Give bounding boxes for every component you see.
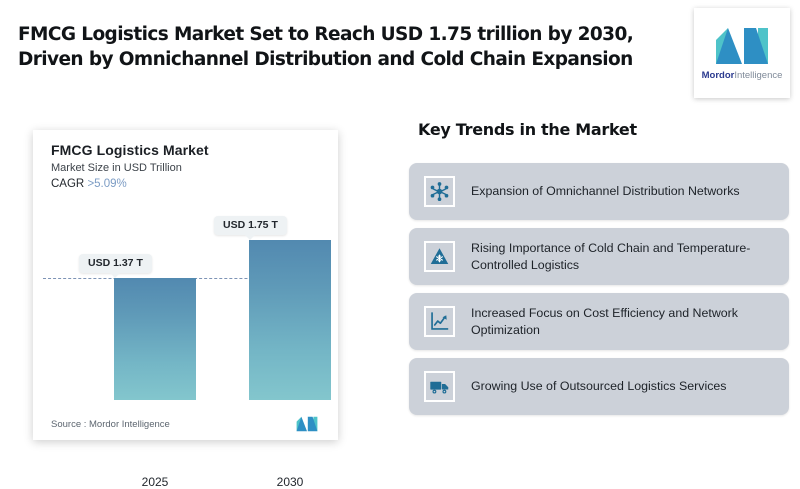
brand-name-bold: Mordor: [702, 70, 735, 81]
mordor-m-mark-icon: [714, 26, 770, 66]
bar-value-label-2025: USD 1.37 T: [79, 254, 152, 273]
trend-card-omnichannel[interactable]: Expansion of Omnichannel Distribution Ne…: [409, 163, 789, 220]
bar-2030[interactable]: [249, 240, 331, 400]
trend-label: Increased Focus on Cost Efficiency and N…: [471, 305, 777, 338]
chart-subtitle: Market Size in USD Trillion: [51, 162, 182, 174]
trend-card-outsourced-logistics[interactable]: Growing Use of Outsourced Logistics Serv…: [409, 358, 789, 415]
chart-title: FMCG Logistics Market: [51, 142, 209, 158]
bar-2025[interactable]: [114, 278, 196, 400]
chart-panel: FMCG Logistics Market Market Size in USD…: [33, 130, 338, 440]
trend-label: Expansion of Omnichannel Distribution Ne…: [471, 183, 740, 200]
brand-name-light: Intelligence: [734, 70, 782, 81]
trends-heading: Key Trends in the Market: [418, 120, 637, 139]
bar-plot-area: USD 1.37 T USD 1.75 T 2025 2030: [33, 200, 338, 400]
trend-label: Rising Importance of Cold Chain and Temp…: [471, 240, 777, 273]
chart-source-text: Source : Mordor Intelligence: [51, 419, 170, 430]
x-axis-tick-2030: 2030: [249, 475, 331, 489]
brand-logo: MordorIntelligence: [694, 8, 790, 98]
chart-cagr-value: >5.09%: [87, 178, 126, 190]
trends-list: Expansion of Omnichannel Distribution Ne…: [409, 163, 789, 423]
page-title: FMCG Logistics Market Set to Reach USD 1…: [18, 22, 668, 72]
growth-chart-icon: [424, 306, 455, 337]
network-hub-icon: [424, 176, 455, 207]
header-banner: FMCG Logistics Market Set to Reach USD 1…: [0, 0, 800, 112]
delivery-truck-icon: [424, 371, 455, 402]
page-title-line-2: Driven by Omnichannel Distribution and C…: [18, 47, 668, 72]
bar-value-label-2030: USD 1.75 T: [214, 216, 287, 235]
x-axis-tick-2025: 2025: [114, 475, 196, 489]
mordor-m-mark-small-icon: [292, 416, 322, 432]
chart-cagr-label: CAGR: [51, 178, 84, 190]
trend-label: Growing Use of Outsourced Logistics Serv…: [471, 378, 727, 395]
brand-wordmark: MordorIntelligence: [702, 70, 783, 81]
chart-cagr: CAGR >5.09%: [51, 178, 127, 190]
trend-card-cold-chain[interactable]: Rising Importance of Cold Chain and Temp…: [409, 228, 789, 285]
page-title-line-1: FMCG Logistics Market Set to Reach USD 1…: [18, 22, 668, 47]
snowflake-triangle-icon: [424, 241, 455, 272]
trend-card-cost-efficiency[interactable]: Increased Focus on Cost Efficiency and N…: [409, 293, 789, 350]
